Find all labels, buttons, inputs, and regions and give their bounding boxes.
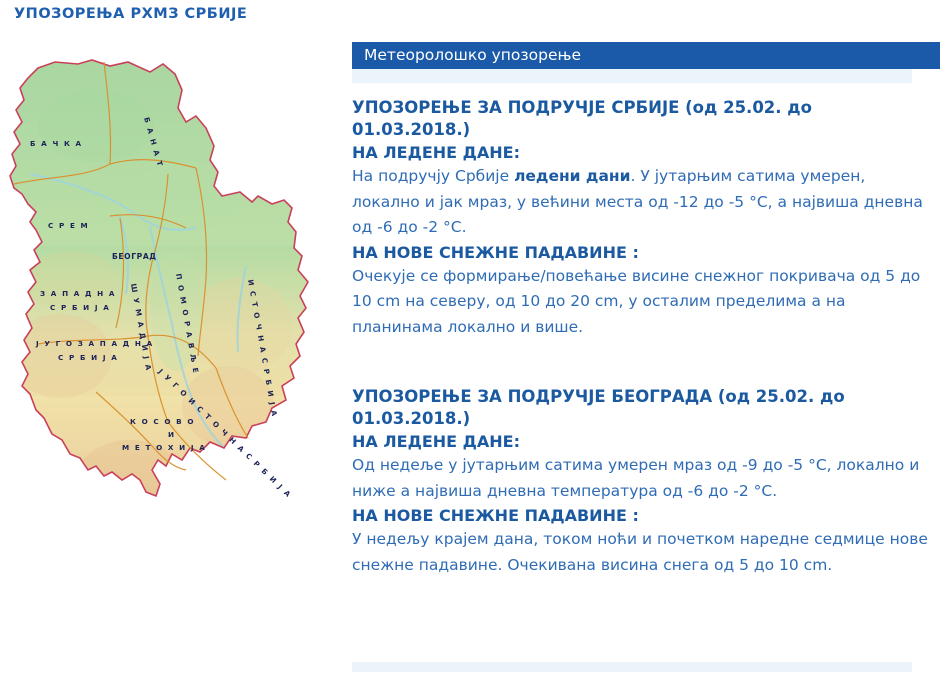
warning-section-serbia: УПОЗОРЕЊЕ ЗА ПОДРУЧЈЕ СРБИЈЕ (од 25.02. … — [352, 97, 938, 340]
meteorological-warning-panel: Метеоролошко упозорење УПОЗОРЕЊЕ ЗА ПОДР… — [352, 42, 940, 674]
warning-text-serbia-ice-days: На подручју Србије ледени дани. У јутарњ… — [352, 164, 928, 241]
map-label-zapadna-srbija-2: С Р Б И Ј А — [50, 303, 110, 312]
warning-body: УПОЗОРЕЊЕ ЗА ПОДРУЧЈЕ СРБИЈЕ (од 25.02. … — [352, 83, 938, 578]
section-spacer — [352, 340, 938, 386]
warning-subtitle-belgrade-ice-days: НА ЛЕДЕНЕ ДАНЕ: — [352, 430, 938, 453]
serbia-map: Б А Ч К А Б А Н А Т С Р Е М БЕОГРАД З А … — [0, 56, 340, 616]
warning-subtitle-belgrade-snowfall: НА НОВЕ СНЕЖНЕ ПАДАВИНЕ : — [352, 504, 938, 527]
page-title: УПОЗОРЕЊА РХМЗ СРБИЈЕ — [14, 6, 247, 22]
map-label-backa: Б А Ч К А — [30, 139, 83, 148]
header-underbar — [352, 69, 912, 83]
map-label-kosovo-2: И — [168, 430, 176, 439]
warning-title-serbia: УПОЗОРЕЊЕ ЗА ПОДРУЧЈЕ СРБИЈЕ (од 25.02. … — [352, 97, 922, 141]
text-before: На подручју Србије — [352, 167, 514, 185]
warning-panel-header: Метеоролошко упозорење — [352, 42, 940, 69]
text-bold: ледени дани — [514, 167, 630, 185]
map-label-kosovo-1: К О С О В О — [130, 417, 195, 426]
warning-text-belgrade-ice-days: Од недеље у јутарњим сатима умерен мраз … — [352, 453, 928, 504]
map-label-kosovo-3: М Е Т О Х И Ј А — [122, 443, 206, 452]
warning-subtitle-serbia-ice-days: НА ЛЕДЕНЕ ДАНЕ: — [352, 141, 938, 164]
warning-text-serbia-snowfall: Очекује се формирање/повећање висине сне… — [352, 264, 928, 341]
warning-text-belgrade-snowfall: У недељу крајем дана, током ноћи и почет… — [352, 527, 928, 578]
warning-section-belgrade: УПОЗОРЕЊЕ ЗА ПОДРУЧЈЕ БЕОГРАДА (од 25.02… — [352, 386, 938, 578]
map-label-jugozapadna-srbija-2: С Р Б И Ј А — [58, 353, 118, 362]
map-label-zapadna-srbija-1: З А П А Д Н А — [40, 289, 116, 298]
map-label-srem: С Р Е М — [48, 221, 89, 230]
map-label-beograd: БЕОГРАД — [112, 252, 157, 261]
footer-strip — [352, 662, 912, 672]
warning-title-belgrade: УПОЗОРЕЊЕ ЗА ПОДРУЧЈЕ БЕОГРАДА (од 25.02… — [352, 386, 922, 430]
warning-subtitle-serbia-snowfall: НА НОВЕ СНЕЖНЕ ПАДАВИНЕ : — [352, 241, 938, 264]
map-label-jugozapadna-srbija-1: Ј У Г О З А П А Д Н А — [35, 339, 154, 348]
serbia-map-svg: Б А Ч К А Б А Н А Т С Р Е М БЕОГРАД З А … — [0, 56, 340, 616]
